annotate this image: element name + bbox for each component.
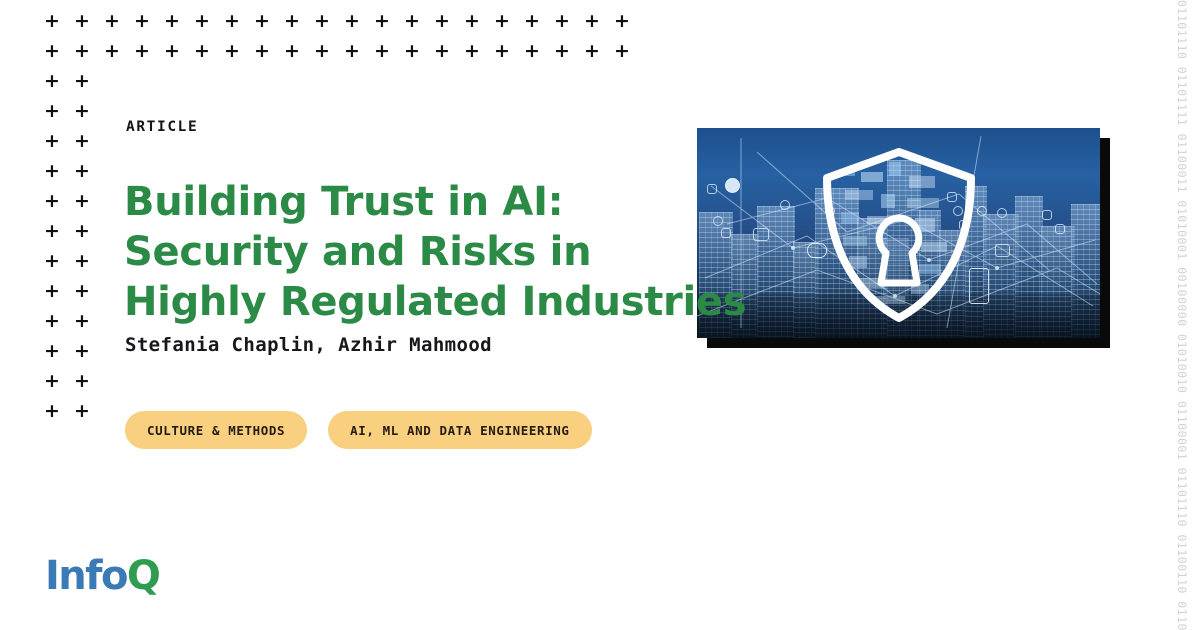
plus-pattern-row: ++ xyxy=(44,164,104,178)
plus-glyph: + xyxy=(284,44,314,58)
topic-tag[interactable]: AI, ML AND DATA ENGINEERING xyxy=(328,411,591,449)
plus-glyph: + xyxy=(344,14,374,28)
plus-glyph: + xyxy=(44,284,74,298)
plus-glyph: + xyxy=(74,14,104,28)
plus-pattern-row: ++ xyxy=(44,194,104,208)
plus-glyph: + xyxy=(584,14,614,28)
plus-pattern-row: ++ xyxy=(44,134,104,148)
chart-icon xyxy=(995,244,1010,257)
image-icon xyxy=(753,228,769,241)
plus-glyph: + xyxy=(44,104,74,118)
plus-glyph: + xyxy=(224,44,254,58)
plus-glyph: + xyxy=(404,44,434,58)
plus-glyph: + xyxy=(194,44,224,58)
plus-glyph: + xyxy=(44,164,74,178)
plus-glyph: + xyxy=(134,44,164,58)
plus-glyph: + xyxy=(104,44,134,58)
plus-pattern-row: ++ xyxy=(44,104,104,118)
plus-pattern-row: ++ xyxy=(44,314,104,328)
plus-glyph: + xyxy=(74,74,104,88)
plus-glyph: + xyxy=(194,14,224,28)
plus-glyph: + xyxy=(494,44,524,58)
plus-glyph: + xyxy=(284,14,314,28)
plus-glyph: + xyxy=(44,404,74,418)
plus-glyph: + xyxy=(44,344,74,358)
plus-glyph: + xyxy=(44,194,74,208)
binary-code-decoration: 01101110 01101111 01100011 01010001 0010… xyxy=(1164,0,1200,630)
title-line-1: Building Trust in AI: xyxy=(124,177,724,227)
topic-tag-list: CULTURE & METHODS AI, ML AND DATA ENGINE… xyxy=(125,411,592,449)
plus-pattern-row: ++++++++++++++++++++ xyxy=(44,14,644,28)
plus-glyph: + xyxy=(494,14,524,28)
plus-glyph: + xyxy=(74,134,104,148)
plus-glyph: + xyxy=(164,14,194,28)
logo-q-text: Q xyxy=(127,553,159,599)
plus-glyph: + xyxy=(44,74,74,88)
plus-glyph: + xyxy=(74,194,104,208)
plus-glyph: + xyxy=(74,224,104,238)
author-byline: Stefania Chaplin, Azhir Mahmood xyxy=(125,334,492,356)
plus-glyph: + xyxy=(224,14,254,28)
lock-icon xyxy=(1055,224,1065,234)
plus-glyph: + xyxy=(524,14,554,28)
topic-tag[interactable]: CULTURE & METHODS xyxy=(125,411,307,449)
plus-glyph: + xyxy=(254,14,284,28)
social-card: ++++++++++++++++++++++++++++++++++++++++… xyxy=(0,0,1200,630)
logo-info-text: Info xyxy=(45,553,127,599)
plus-pattern-row: ++ xyxy=(44,74,104,88)
plus-glyph: + xyxy=(44,224,74,238)
plus-pattern-row: ++ xyxy=(44,374,104,388)
plus-glyph: + xyxy=(74,314,104,328)
hero-image-container xyxy=(697,128,1110,348)
plus-glyph: + xyxy=(374,44,404,58)
plus-glyph: + xyxy=(74,104,104,118)
plus-glyph: + xyxy=(44,314,74,328)
hero-image xyxy=(697,128,1100,338)
plus-glyph: + xyxy=(434,44,464,58)
kicker-label: ARTICLE xyxy=(126,119,198,135)
lock-icon xyxy=(1042,210,1052,220)
plus-glyph: + xyxy=(44,254,74,268)
plus-pattern-row: ++ xyxy=(44,344,104,358)
logo-wordmark: InfoQ xyxy=(45,556,159,596)
plus-glyph: + xyxy=(74,284,104,298)
plus-glyph: + xyxy=(464,44,494,58)
plus-glyph: + xyxy=(134,14,164,28)
plus-glyph: + xyxy=(314,44,344,58)
plus-glyph: + xyxy=(74,44,104,58)
plus-glyph: + xyxy=(404,14,434,28)
plus-glyph: + xyxy=(164,44,194,58)
shield-keyhole-icon xyxy=(815,146,983,324)
user-icon xyxy=(780,200,790,210)
plus-glyph: + xyxy=(74,404,104,418)
plus-pattern-row: ++ xyxy=(44,404,104,418)
infoq-logo[interactable]: InfoQ xyxy=(45,553,159,599)
page-title: Building Trust in AI: Security and Risks… xyxy=(124,177,724,327)
plus-glyph: + xyxy=(44,374,74,388)
plus-glyph: + xyxy=(344,44,374,58)
plus-glyph: + xyxy=(44,134,74,148)
plus-glyph: + xyxy=(554,14,584,28)
plus-glyph: + xyxy=(74,164,104,178)
plus-glyph: + xyxy=(74,344,104,358)
plus-glyph: + xyxy=(614,44,644,58)
location-pin-icon xyxy=(725,178,740,193)
plus-glyph: + xyxy=(524,44,554,58)
plus-glyph: + xyxy=(374,14,404,28)
plus-pattern-row: ++ xyxy=(44,224,104,238)
plus-glyph: + xyxy=(74,254,104,268)
plus-glyph: + xyxy=(554,44,584,58)
plus-glyph: + xyxy=(254,44,284,58)
plus-pattern-row: ++ xyxy=(44,254,104,268)
plus-glyph: + xyxy=(44,44,74,58)
plus-glyph: + xyxy=(104,14,134,28)
plus-glyph: + xyxy=(464,14,494,28)
plus-pattern-row: ++ xyxy=(44,284,104,298)
plus-pattern-row: ++++++++++++++++++++ xyxy=(44,44,644,58)
plus-glyph: + xyxy=(584,44,614,58)
title-line-3: Highly Regulated Industries xyxy=(124,277,724,327)
binary-code-line: 01101110 01101111 01100011 01010001 0010… xyxy=(1175,0,1189,630)
plus-glyph: + xyxy=(74,374,104,388)
plus-glyph: + xyxy=(314,14,344,28)
node-icon xyxy=(997,208,1007,218)
plus-glyph: + xyxy=(614,14,644,28)
title-line-2: Security and Risks in xyxy=(124,227,724,277)
plus-glyph: + xyxy=(434,14,464,28)
plus-glyph: + xyxy=(44,14,74,28)
